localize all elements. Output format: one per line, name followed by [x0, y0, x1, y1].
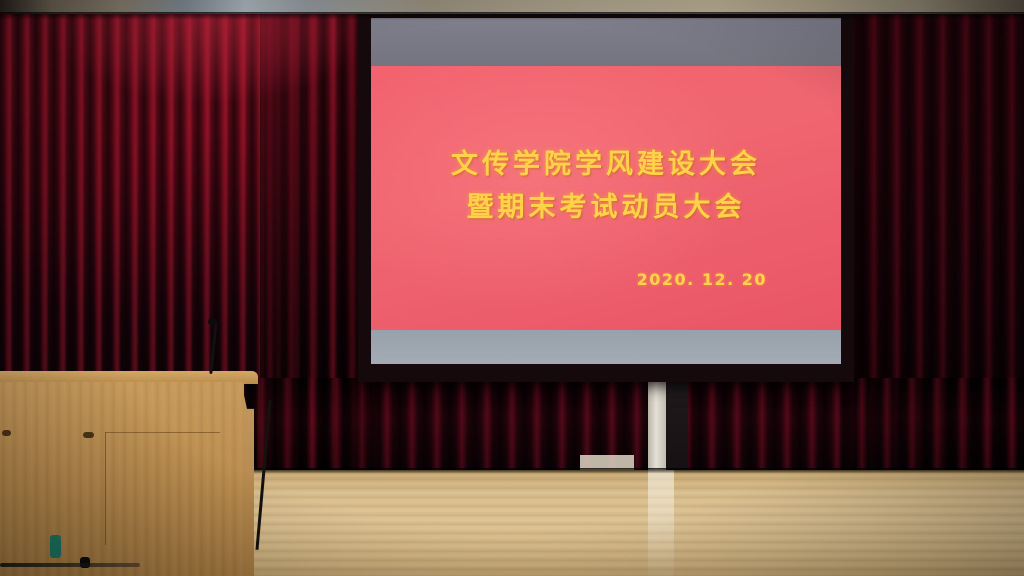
floor-cable — [0, 563, 140, 567]
podium-knob-center — [83, 432, 94, 438]
slide-title-line-1: 文传学院学风建设大会 — [451, 144, 761, 185]
projection-screen: 文传学院学风建设大会 暨期末考试动员大会 2020. 12. 20 — [358, 4, 854, 382]
curtain-light-glow — [40, 12, 380, 102]
presentation-slide: 文传学院学风建设大会 暨期末考试动员大会 2020. 12. 20 — [371, 66, 841, 330]
curtain-gap-shadow — [666, 380, 688, 475]
slide-title-line-2: 暨期末考试动员大会 — [467, 187, 746, 228]
letterbox-band-top — [371, 18, 841, 66]
letterbox-band-bottom — [371, 330, 841, 364]
slide-date: 2020. 12. 20 — [637, 270, 767, 289]
stage-floor-reflection — [648, 470, 674, 576]
projection-screen-content: 文传学院学风建设大会 暨期末考试动员大会 2020. 12. 20 — [371, 18, 841, 364]
podium-front-panel — [0, 382, 244, 576]
wooden-podium — [0, 371, 264, 576]
podium-door-seam-horizontal — [105, 432, 220, 433]
ceiling-shadow — [0, 12, 1024, 20]
podium-door-seam-vertical — [105, 432, 106, 545]
white-structural-column — [648, 380, 666, 475]
green-object — [50, 535, 61, 558]
stage-photo-scene: 文传学院学风建设大会 暨期末考试动员大会 2020. 12. 20 — [0, 0, 1024, 576]
podium-knob-left — [2, 430, 11, 436]
microphone-icon — [208, 318, 217, 325]
